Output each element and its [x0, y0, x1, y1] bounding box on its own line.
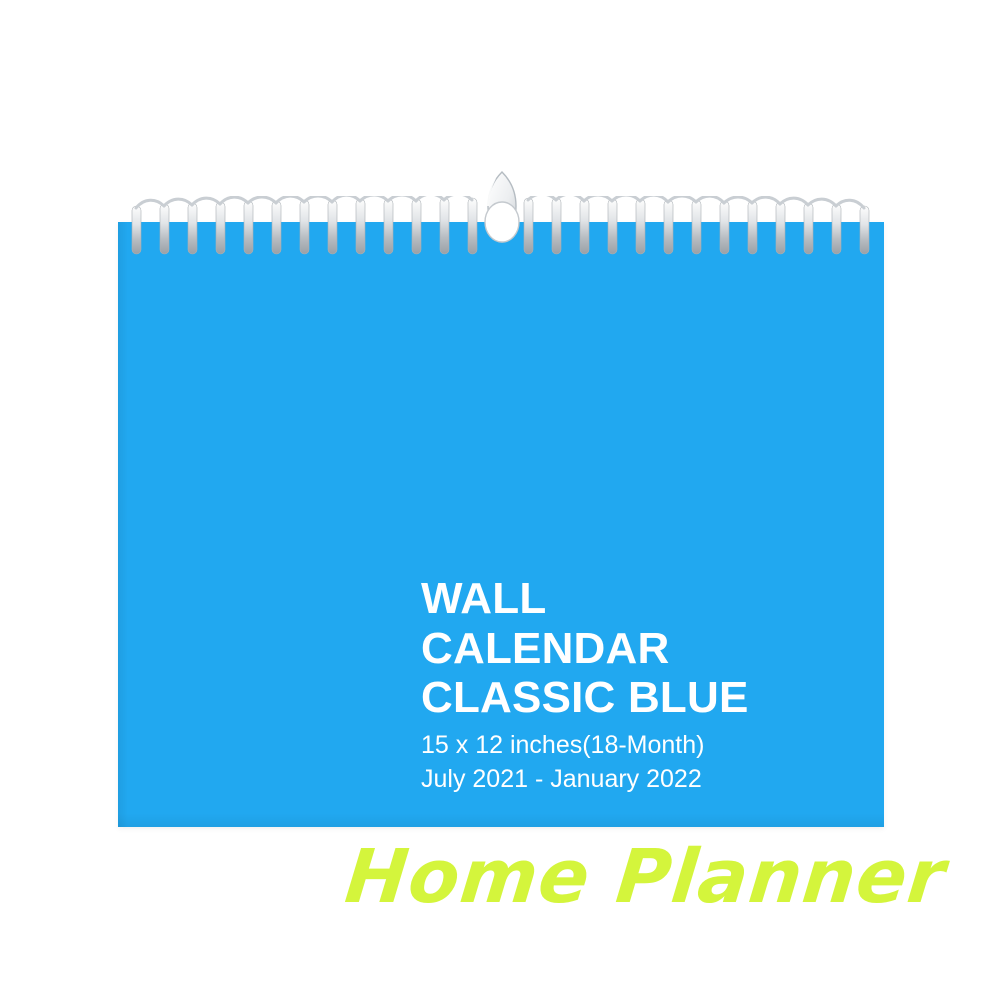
cover-title-line-3: CLASSIC BLUE [421, 673, 891, 723]
cover-title-line-2: CALENDAR [421, 624, 891, 674]
cover-size-line: 15 x 12 inches(18-Month) [421, 729, 891, 763]
cover-date-range-line: July 2021 - January 2022 [421, 763, 891, 797]
cover-text-block: WALL CALENDAR CLASSIC BLUE 15 x 12 inche… [421, 574, 891, 796]
cover-script-text: Home Planner [341, 834, 950, 920]
product-photo-stage: WALL CALENDAR CLASSIC BLUE 15 x 12 inche… [0, 0, 1001, 1001]
cover-title-line-1: WALL [421, 574, 891, 624]
calendar-cover-panel: WALL CALENDAR CLASSIC BLUE 15 x 12 inche… [118, 222, 884, 827]
